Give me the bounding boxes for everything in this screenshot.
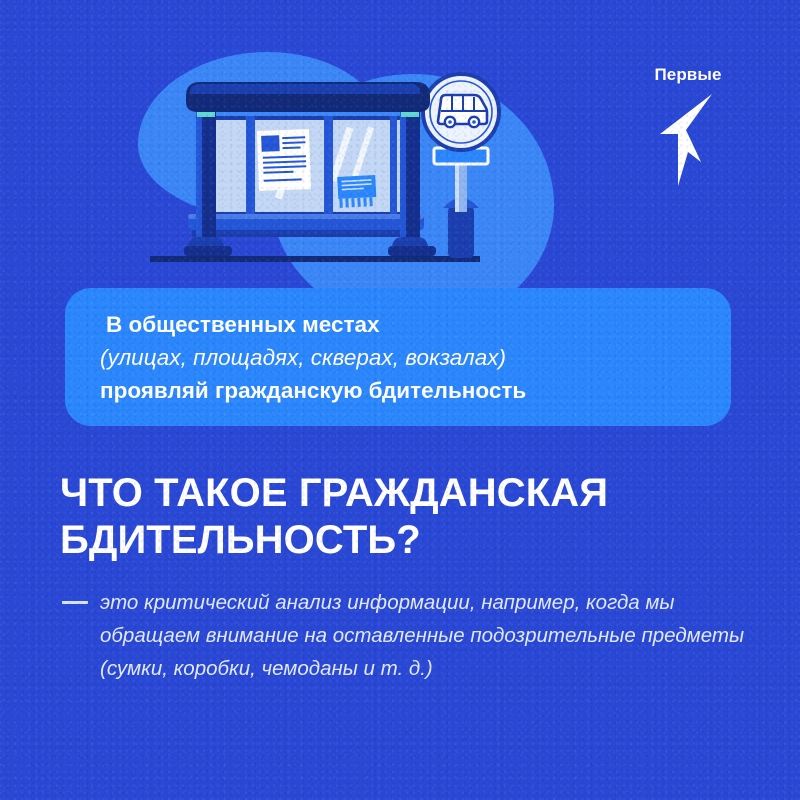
- post-foot-right: [392, 237, 428, 246]
- definition-block: это критический анализ информации, напри…: [62, 586, 762, 685]
- logo-wordmark: Первые: [628, 66, 748, 83]
- ground-line: [150, 256, 480, 262]
- mullion-1: [246, 116, 255, 214]
- shelter-post-left-hi: [196, 108, 202, 246]
- highlight-card: В общественных местах (улицах, площадях,…: [65, 288, 731, 426]
- card-line-3: проявляй гражданскую бдительность: [100, 374, 731, 407]
- brand-logo: Первые: [628, 66, 748, 190]
- em-dash-rule: [62, 601, 88, 604]
- poster-notice: [257, 129, 311, 191]
- sign-pole-base: [448, 206, 474, 258]
- card-line-1: В общественных местах: [106, 308, 731, 341]
- shelter-roof-hi: [190, 84, 420, 94]
- card-line-2: (улицах, площадях, скверах, вокзалах): [100, 341, 731, 374]
- arrow-up-right-mark: [652, 90, 724, 190]
- mullion-3: [390, 116, 397, 214]
- bench-seat-top: [188, 214, 424, 219]
- poster-canvas: Первые В общественных местах (улицах, пл…: [0, 0, 800, 800]
- mullion-2: [324, 116, 333, 214]
- shelter-post-right-hi: [400, 108, 406, 246]
- page-title: ЧТО ТАКОЕ ГРАЖДАНСКАЯ БДИТЕЛЬНОСТЬ?: [60, 470, 760, 564]
- post-foot-left: [188, 237, 224, 246]
- definition-text: это критический анализ информации, напри…: [100, 586, 762, 685]
- bus-glyph: [438, 95, 487, 127]
- bench-apron: [192, 230, 420, 237]
